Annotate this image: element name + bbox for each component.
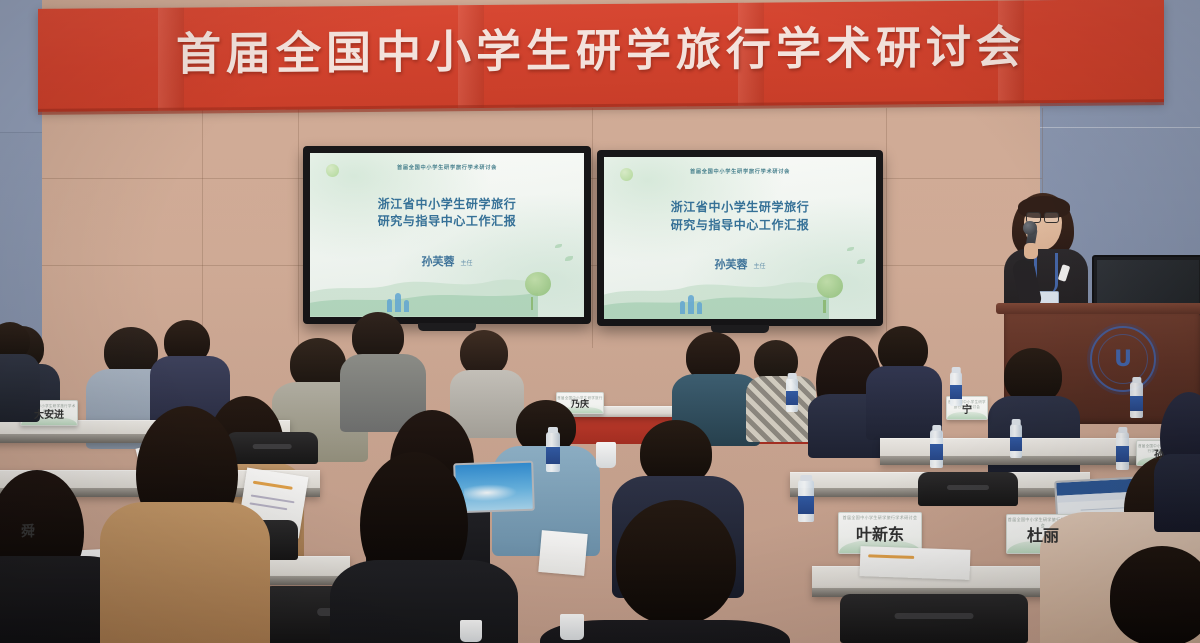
slide-right: 首届全国中小学生研学旅行学术研讨会 浙江省中小学生研学旅行 研究与指导中心工作汇… — [604, 157, 876, 319]
audience-person — [746, 340, 816, 440]
water-bottle — [1010, 424, 1022, 458]
water-bottle — [786, 378, 798, 412]
slide-people-figures — [387, 293, 409, 312]
water-bottle — [930, 430, 943, 468]
projection-screen-left: 首届全国中小学生研学旅行学术研讨会 浙江省中小学生研学旅行 研究与指导中心工作汇… — [303, 146, 591, 324]
wall-accent-panel-left-upper — [0, 0, 42, 133]
wall-seam — [886, 108, 887, 348]
slide-title-line1: 浙江省中小学生研学旅行 — [604, 199, 876, 217]
placard-name: 宁 — [962, 401, 972, 416]
slide-leaf-decor — [847, 247, 854, 251]
placard-name: 乃庆 — [571, 397, 589, 410]
wall-seam — [202, 108, 203, 348]
eyeglasses-right — [1044, 212, 1059, 223]
paper-cup — [596, 442, 616, 468]
audience-person-foreground — [330, 452, 518, 643]
conference-photo: 首届全国中小学生研学旅行学术研讨会 首届全国中小学生研学旅行学术研讨会 浙江省中… — [0, 0, 1200, 643]
slide-title: 浙江省中小学生研学旅行 研究与指导中心工作汇报 — [604, 199, 876, 235]
chair — [840, 594, 1028, 643]
wall-seam — [592, 108, 593, 348]
slide-left: 首届全国中小学生研学旅行学术研讨会 浙江省中小学生研学旅行 研究与指导中心工作汇… — [310, 153, 584, 317]
placard-name: 舜 — [21, 521, 35, 541]
microphone-head-icon — [1023, 221, 1037, 235]
audience-person — [1160, 392, 1200, 522]
slide-tree-icon — [525, 272, 551, 296]
slide-title-line2: 研究与指导中心工作汇报 — [310, 213, 584, 231]
slide-header-text: 首届全国中小学生研学旅行学术研讨会 — [604, 168, 876, 175]
slide-title-line2: 研究与指导中心工作汇报 — [604, 217, 876, 235]
emblem-letter: U — [1098, 334, 1148, 384]
placard-name: 叶新东 — [856, 521, 904, 545]
university-emblem-icon: U — [1090, 326, 1156, 392]
projection-screen-right: 首届全国中小学生研学旅行学术研讨会 浙江省中小学生研学旅行 研究与指导中心工作汇… — [597, 150, 883, 326]
slide-hills-illustration — [310, 261, 538, 317]
placard-name: 大安进 — [34, 406, 64, 421]
slide-tree-trunk — [531, 297, 534, 310]
audience-person-foreground — [1110, 546, 1200, 643]
handout-paper — [860, 546, 971, 580]
placard-name: 孙 — [1154, 446, 1164, 461]
water-bottle — [546, 432, 560, 472]
water-bottle — [798, 480, 814, 522]
slide-people-figures — [680, 295, 702, 314]
slide-leaf-decor — [555, 244, 562, 248]
banner-title: 首届全国中小学生研学旅行学术研讨会 — [38, 13, 1164, 89]
slide-tree-icon — [817, 274, 843, 298]
audience-person-foreground — [100, 406, 270, 643]
slide-tree-trunk — [823, 300, 826, 313]
slide-title-line1: 浙江省中小学生研学旅行 — [310, 196, 584, 214]
audience-person — [866, 326, 942, 436]
slide-header-text: 首届全国中小学生研学旅行学术研讨会 — [310, 164, 584, 171]
paper-cup — [460, 620, 482, 642]
slide-hills-illustration — [604, 264, 829, 319]
water-bottle — [1130, 382, 1143, 418]
audience-person — [0, 322, 26, 418]
wall-seam — [298, 108, 299, 348]
chair — [918, 472, 1018, 506]
event-banner: 首届全国中小学生研学旅行学术研讨会 — [38, 0, 1164, 112]
placard-name: 杜丽 — [1027, 522, 1059, 546]
slide-title: 浙江省中小学生研学旅行 研究与指导中心工作汇报 — [310, 196, 584, 232]
paper-cup — [560, 614, 584, 640]
water-bottle — [950, 372, 962, 406]
